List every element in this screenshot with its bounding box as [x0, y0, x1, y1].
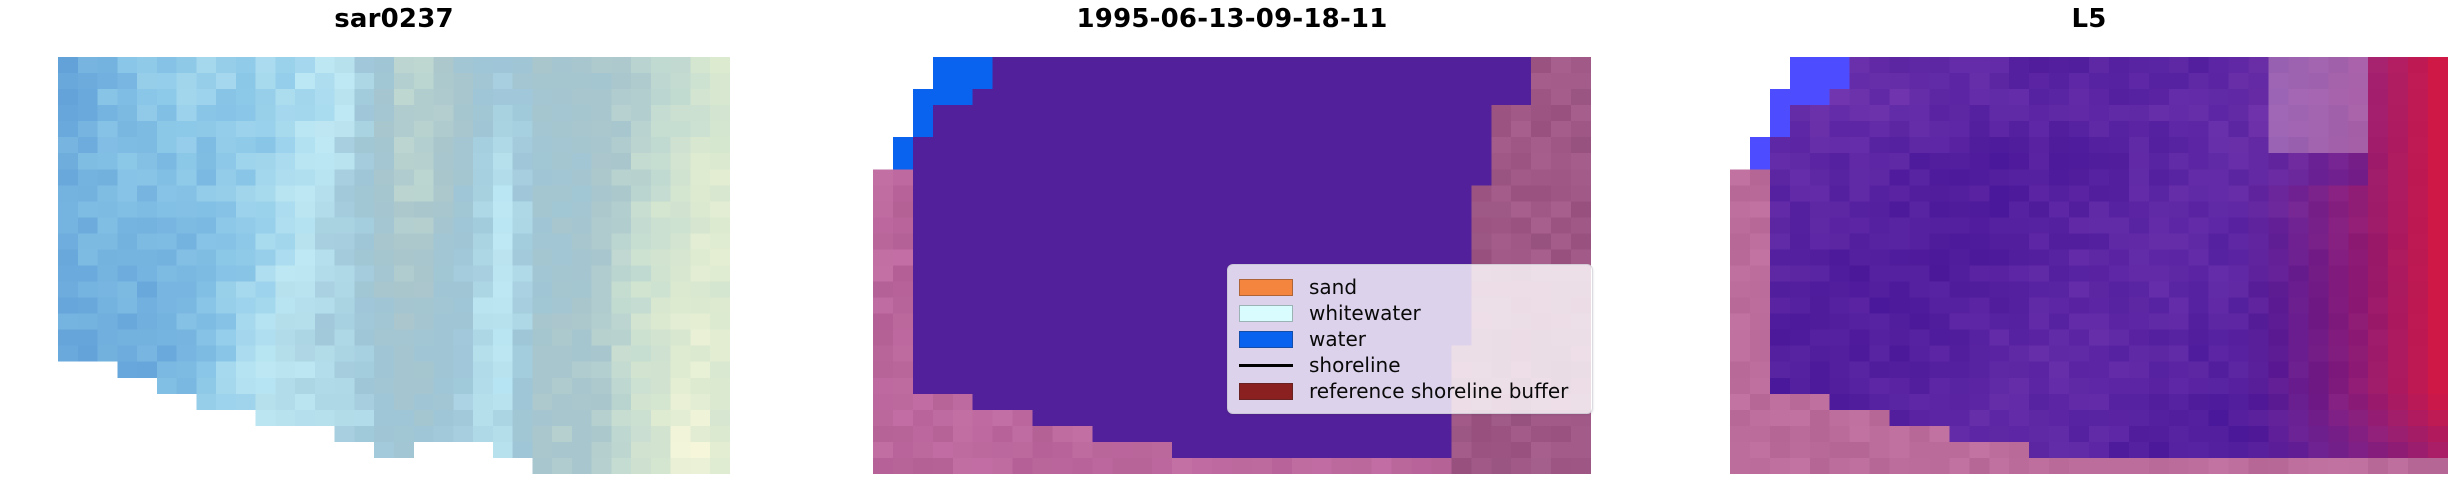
panel-title-sar0237: sar0237: [58, 4, 730, 34]
legend-box: sand whitewater water shoreline referenc…: [1227, 264, 1593, 414]
figure-canvas: sar0237 1995-06-13-09-18-11 L5 sand whit…: [0, 0, 2460, 488]
legend-item-whitewater[interactable]: whitewater: [1239, 300, 1580, 326]
legend-item-sand[interactable]: sand: [1239, 274, 1580, 300]
legend-swatch-sand-icon: [1239, 279, 1293, 296]
legend-label-whitewater: whitewater: [1309, 300, 1421, 326]
raster-l5: [1730, 57, 2448, 474]
raster-sar0237: [58, 57, 730, 474]
legend-item-water[interactable]: water: [1239, 326, 1580, 352]
legend-swatch-whitewater-icon: [1239, 305, 1293, 322]
legend-item-shoreline[interactable]: shoreline: [1239, 352, 1580, 378]
legend-swatch-reference-buffer-icon: [1239, 383, 1293, 400]
panel-title-classification: 1995-06-13-09-18-11: [873, 4, 1591, 34]
legend-label-water: water: [1309, 326, 1366, 352]
legend-swatch-water-icon: [1239, 331, 1293, 348]
legend-label-shoreline: shoreline: [1309, 352, 1401, 378]
legend-label-sand: sand: [1309, 274, 1357, 300]
axes-l5: [1730, 57, 2448, 474]
legend-label-reference-shoreline-buffer: reference shoreline buffer: [1309, 378, 1568, 404]
legend-item-reference-shoreline-buffer[interactable]: reference shoreline buffer: [1239, 378, 1580, 404]
legend-line-shoreline-icon: [1239, 357, 1293, 374]
panel-title-l5: L5: [1730, 4, 2448, 34]
axes-sar0237: [58, 57, 730, 474]
